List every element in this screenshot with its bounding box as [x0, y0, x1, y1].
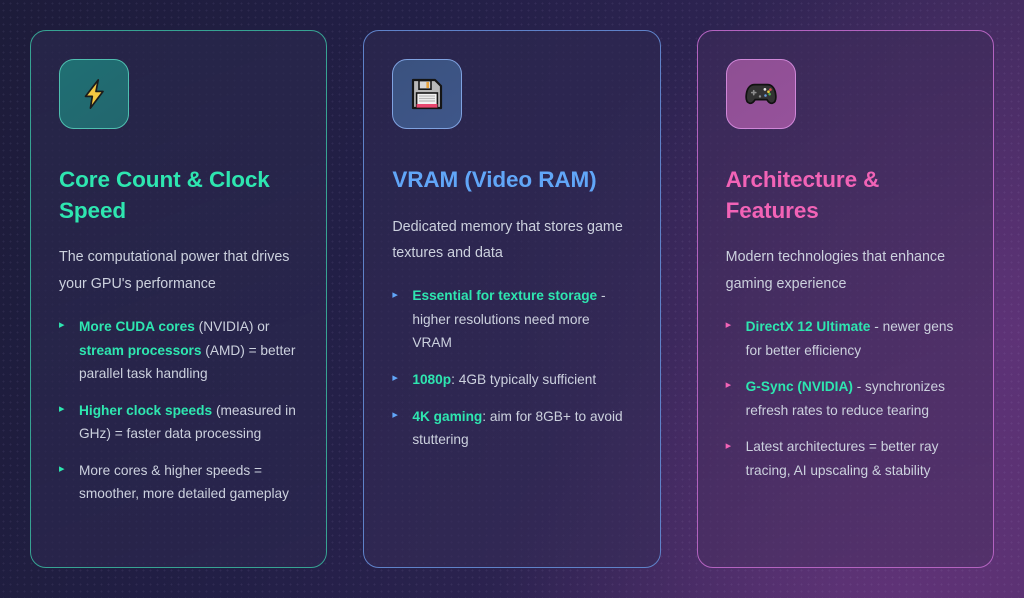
list-item: ▸ G-Sync (NVIDIA) - synchronizes refresh… [726, 375, 965, 422]
floppy-disk-icon-svg [411, 78, 443, 110]
bullet-marker-icon: ▸ [726, 377, 732, 394]
bullet-highlight: More CUDA cores [79, 319, 195, 334]
bullet-marker-icon: ▸ [59, 461, 65, 478]
bullet-highlight: DirectX 12 Ultimate [746, 319, 871, 334]
bullet-highlight: G-Sync (NVIDIA) [746, 379, 853, 394]
list-item: ▸ 4K gaming: aim for 8GB+ to avoid stutt… [392, 405, 631, 452]
bullet-text: More cores & higher speeds = smoother, m… [79, 463, 289, 502]
card-bullet-list: ▸ Essential for texture storage - higher… [392, 284, 631, 451]
lightning-bolt-icon-svg [77, 77, 111, 111]
bullet-text: Latest architectures = better ray tracin… [746, 439, 939, 478]
bullet-marker-icon: ▸ [726, 438, 732, 455]
card-vram-video-ram[interactable]: VRAM (Video RAM) Dedicated memory that s… [363, 30, 660, 568]
lightning-bolt-icon [77, 77, 111, 111]
card-title: Core Count & Clock Speed [59, 165, 298, 226]
card-description: The computational power that drives your… [59, 244, 298, 298]
list-item: ▸ DirectX 12 Ultimate - newer gens for b… [726, 315, 965, 362]
bullet-marker-icon: ▸ [392, 370, 398, 387]
game-controller-icon-svg [744, 77, 778, 111]
bullet-marker-icon: ▸ [392, 287, 398, 304]
bullet-marker-icon: ▸ [726, 317, 732, 334]
card-bullet-list: ▸ DirectX 12 Ultimate - newer gens for b… [726, 315, 965, 482]
bullet-highlight: Higher clock speeds [79, 403, 212, 418]
bullet-highlight-2: stream processors [79, 343, 202, 358]
floppy-disk-icon-tile [392, 59, 462, 129]
card-title: Architecture & Features [726, 165, 965, 226]
card-core-count-clock-speed[interactable]: Core Count & Clock Speed The computation… [30, 30, 327, 568]
list-item: ▸ More cores & higher speeds = smoother,… [59, 459, 298, 506]
card-bullet-list: ▸ More CUDA cores (NVIDIA) or stream pro… [59, 315, 298, 506]
bullet-marker-icon: ▸ [392, 407, 398, 424]
bullet-marker-icon: ▸ [59, 401, 65, 418]
card-description: Modern technologies that enhance gaming … [726, 244, 965, 298]
bullet-highlight: 4K gaming [412, 409, 482, 424]
game-controller-icon-tile [726, 59, 796, 129]
bullet-highlight: 1080p [412, 372, 451, 387]
lightning-bolt-icon-tile [59, 59, 129, 129]
list-item: ▸ More CUDA cores (NVIDIA) or stream pro… [59, 315, 298, 386]
feature-cards-container: Core Count & Clock Speed The computation… [0, 0, 1024, 598]
card-description: Dedicated memory that stores game textur… [392, 214, 631, 268]
list-item: ▸ Higher clock speeds (measured in GHz) … [59, 399, 298, 446]
bullet-marker-icon: ▸ [59, 317, 65, 334]
bullet-text: (NVIDIA) or [195, 319, 270, 334]
card-title: VRAM (Video RAM) [392, 165, 631, 196]
floppy-disk-icon [411, 78, 443, 110]
list-item: ▸ Latest architectures = better ray trac… [726, 435, 965, 482]
card-architecture-features[interactable]: Architecture & Features Modern technolog… [697, 30, 994, 568]
bullet-highlight: Essential for texture storage [412, 288, 597, 303]
bullet-text: : 4GB typically sufficient [451, 372, 596, 387]
game-controller-icon [744, 77, 778, 111]
list-item: ▸ 1080p: 4GB typically sufficient [392, 368, 631, 392]
list-item: ▸ Essential for texture storage - higher… [392, 284, 631, 355]
